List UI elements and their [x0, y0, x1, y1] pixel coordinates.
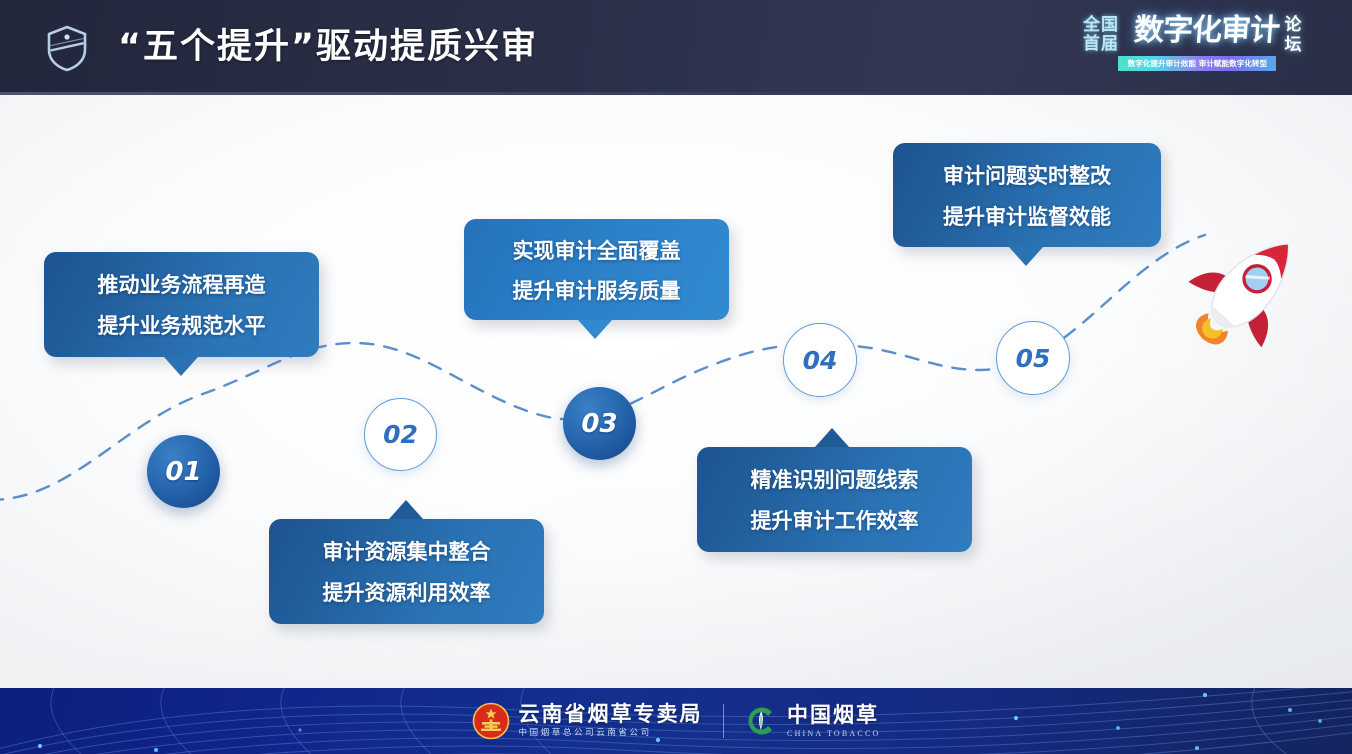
slide-root: “五个提升”驱动提质兴审 全国 首届 数字化审计 论 坛 数字化提升审计效能 审…: [0, 0, 1352, 754]
yunnan-subname: 中国烟草总公司云南省公司: [519, 729, 703, 738]
callout-04[interactable]: 精准识别问题线索 提升审计工作效率: [697, 447, 972, 552]
slide-header: “五个提升”驱动提质兴审 全国 首届 数字化审计 论 坛 数字化提升审计效能 审…: [0, 0, 1352, 95]
callout-02-line2: 提升资源利用效率: [323, 577, 491, 607]
china-tobacco-subname: CHINA TOBACCO: [787, 730, 880, 738]
callout-02-line1: 审计资源集中整合: [323, 536, 491, 566]
callout-04-line2: 提升审计工作效率: [751, 505, 919, 535]
event-logo-subtitle: 数字化提升审计效能 审计赋能数字化转型: [1127, 58, 1266, 68]
footer-divider: [723, 704, 725, 738]
china-tobacco-logo-group: 中国烟草 CHINA TOBACCO: [744, 704, 880, 738]
page-title: “五个提升”驱动提质兴审: [118, 22, 538, 72]
callout-01[interactable]: 推动业务流程再造 提升业务规范水平: [44, 252, 319, 357]
diagram-canvas: 01 02 03 04 05 推动业务流程再造 提升业务规范水平 审计资源集中整…: [0, 95, 1352, 688]
node-03[interactable]: 03: [563, 387, 636, 460]
national-emblem-icon: [472, 702, 510, 740]
node-01-label: 01: [165, 457, 201, 487]
rocket-icon: [1182, 223, 1312, 358]
callout-04-line1: 精准识别问题线索: [751, 464, 919, 494]
callout-05-line2: 提升审计监督效能: [943, 201, 1111, 231]
node-05-label: 05: [1016, 344, 1051, 373]
node-04[interactable]: 04: [783, 323, 857, 397]
china-tobacco-logo-icon: [744, 704, 778, 738]
event-logo-suffix: 论 坛: [1276, 15, 1310, 55]
callout-04-tail: [815, 428, 849, 447]
node-02[interactable]: 02: [364, 398, 437, 471]
event-logo: 全国 首届 数字化审计 论 坛 数字化提升审计效能 审计赋能数字化转型: [1048, 16, 1310, 82]
node-01[interactable]: 01: [147, 435, 220, 508]
shield-icon: [44, 24, 90, 72]
slide-footer: 云南省烟草专卖局 中国烟草总公司云南省公司 中国烟草 CHINA TOBACCO: [0, 688, 1352, 754]
node-04-label: 04: [803, 346, 838, 375]
callout-03-tail: [578, 320, 612, 339]
callout-02-tail: [389, 500, 423, 519]
callout-03[interactable]: 实现审计全面覆盖 提升审计服务质量: [464, 219, 729, 320]
yunnan-name: 云南省烟草专卖局: [519, 704, 703, 725]
callout-05-tail: [1009, 247, 1043, 266]
callout-03-line2: 提升审计服务质量: [513, 275, 681, 305]
yunnan-tobacco-logo: 云南省烟草专卖局 中国烟草总公司云南省公司: [472, 702, 703, 740]
node-02-label: 02: [383, 420, 418, 449]
callout-01-line1: 推动业务流程再造: [98, 269, 266, 299]
callout-03-line1: 实现审计全面覆盖: [513, 235, 681, 265]
callout-01-tail: [164, 357, 198, 376]
node-05[interactable]: 05: [996, 321, 1070, 395]
event-logo-subtitle-bar: 数字化提升审计效能 审计赋能数字化转型: [1118, 56, 1276, 71]
node-03-label: 03: [581, 409, 617, 439]
footer-logo-group: 云南省烟草专卖局 中国烟草总公司云南省公司 中国烟草 CHINA TOBACCO: [0, 688, 1352, 754]
event-logo-main: 数字化审计: [1133, 14, 1280, 48]
event-logo-prefix: 全国 首届: [1070, 16, 1132, 54]
china-tobacco-name: 中国烟草: [787, 705, 880, 726]
callout-01-line2: 提升业务规范水平: [98, 310, 266, 340]
callout-02[interactable]: 审计资源集中整合 提升资源利用效率: [269, 519, 544, 624]
callout-05-line1: 审计问题实时整改: [943, 160, 1111, 190]
callout-05[interactable]: 审计问题实时整改 提升审计监督效能: [893, 143, 1161, 247]
